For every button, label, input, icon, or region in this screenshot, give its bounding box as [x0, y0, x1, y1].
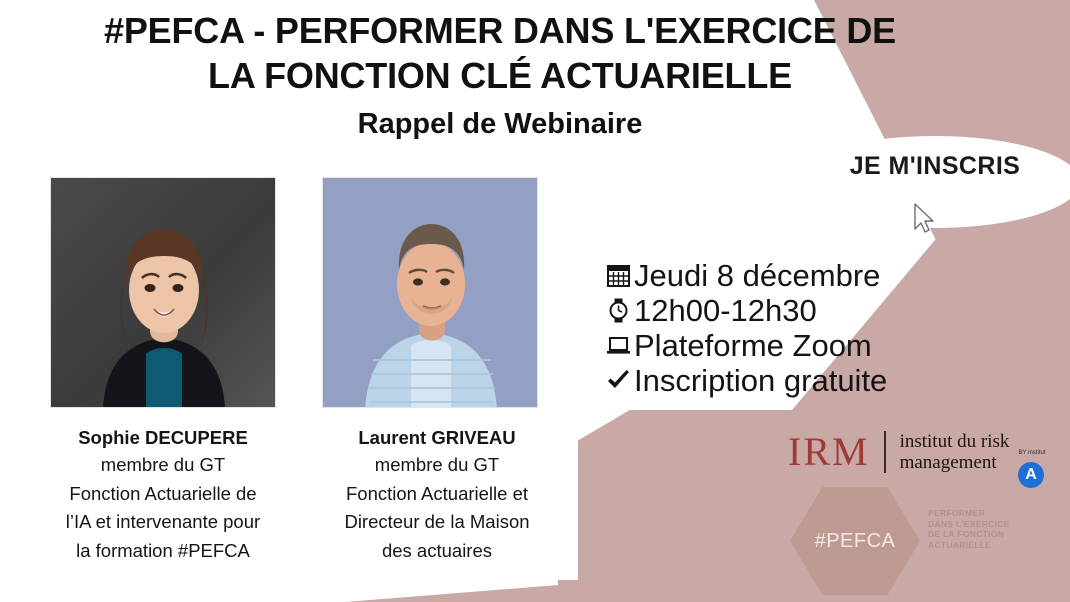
laptop-icon [604, 332, 632, 360]
event-detail-price: Inscription gratuite [604, 363, 887, 398]
mouse-click-cursor-icon [895, 188, 943, 236]
speaker-name: Laurent GRIVEAU [312, 424, 562, 451]
pefca-tagline-line-4: ACTUARIELLE [928, 540, 1058, 551]
speaker-role-line: la formation #PEFCA [20, 537, 306, 566]
event-platform-text: Plateforme Zoom [634, 329, 872, 363]
speaker-role-line: des actuaires [312, 537, 562, 566]
event-detail-date: Jeudi 8 décembre [604, 258, 887, 293]
title-line-2: LA FONCTION CLÉ ACTUARIELLE [0, 53, 1000, 98]
hexagon-shape: #PEFCA [790, 487, 920, 595]
event-date-text: Jeudi 8 décembre [634, 259, 880, 293]
checkmark-icon [604, 367, 632, 395]
irm-wordmark: IRM [788, 428, 870, 475]
pefca-tagline-line-1: PERFORMER [928, 508, 1058, 519]
speaker-role-line: membre du GT [312, 451, 562, 480]
speaker-role-line: Fonction Actuarielle et [312, 480, 562, 509]
pefca-tagline-line-2: DANS L'EXERCICE [928, 519, 1058, 530]
webinar-poster: #PEFCA - PERFORMER DANS L'EXERCICE DE LA… [0, 0, 1070, 602]
speaker-role-line: l’IA et intervenante pour [20, 508, 306, 537]
irm-badge-caption: BY institut [1012, 450, 1052, 456]
title-block: #PEFCA - PERFORMER DANS L'EXERCICE DE LA… [0, 8, 1000, 144]
speaker-role-line: Directeur de la Maison [312, 508, 562, 537]
pefca-tagline: PERFORMER DANS L'EXERCICE DE LA FONCTION… [928, 508, 1058, 550]
page-subtitle: Rappel de Webinaire [0, 104, 1000, 144]
event-detail-platform: Plateforme Zoom [604, 328, 887, 363]
title-line-1: #PEFCA - PERFORMER DANS L'EXERCICE DE [0, 8, 1000, 53]
speaker-name: Sophie DECUPERE [20, 424, 306, 451]
irm-divider [884, 431, 886, 473]
event-time-text: 12h00-12h30 [634, 294, 817, 328]
pefca-hashtag: #PEFCA [815, 530, 896, 553]
avatar-sophie-decupere [50, 177, 276, 408]
event-details-list: Jeudi 8 décembre 12h00-12h30 [604, 258, 887, 398]
irm-tagline: institut du risk management [900, 431, 1010, 473]
caption-sophie-decupere: Sophie DECUPERE membre du GT Fonction Ac… [20, 424, 306, 565]
event-detail-time: 12h00-12h30 [604, 293, 887, 328]
watch-clock-icon [604, 297, 632, 325]
caption-laurent-griveau: Laurent GRIVEAU membre du GT Fonction Ac… [312, 424, 562, 565]
irm-institute-badge-icon: A [1018, 462, 1044, 488]
event-price-text: Inscription gratuite [634, 364, 887, 398]
irm-tagline-line-2: management [900, 452, 997, 473]
pefca-tagline-line-3: DE LA FONCTION [928, 529, 1058, 540]
calendar-icon [604, 262, 632, 290]
irm-tagline-line-1: institut du risk [900, 431, 1010, 452]
avatar-laurent-griveau [322, 177, 538, 408]
speaker-role-line: membre du GT [20, 451, 306, 480]
speaker-role-line: Fonction Actuarielle de [20, 480, 306, 509]
pefca-hexagon-logo: #PEFCA [790, 487, 920, 595]
register-cta-button[interactable]: JE M'INSCRIS [790, 152, 1070, 181]
irm-logo: IRM institut du risk management [788, 428, 1009, 475]
